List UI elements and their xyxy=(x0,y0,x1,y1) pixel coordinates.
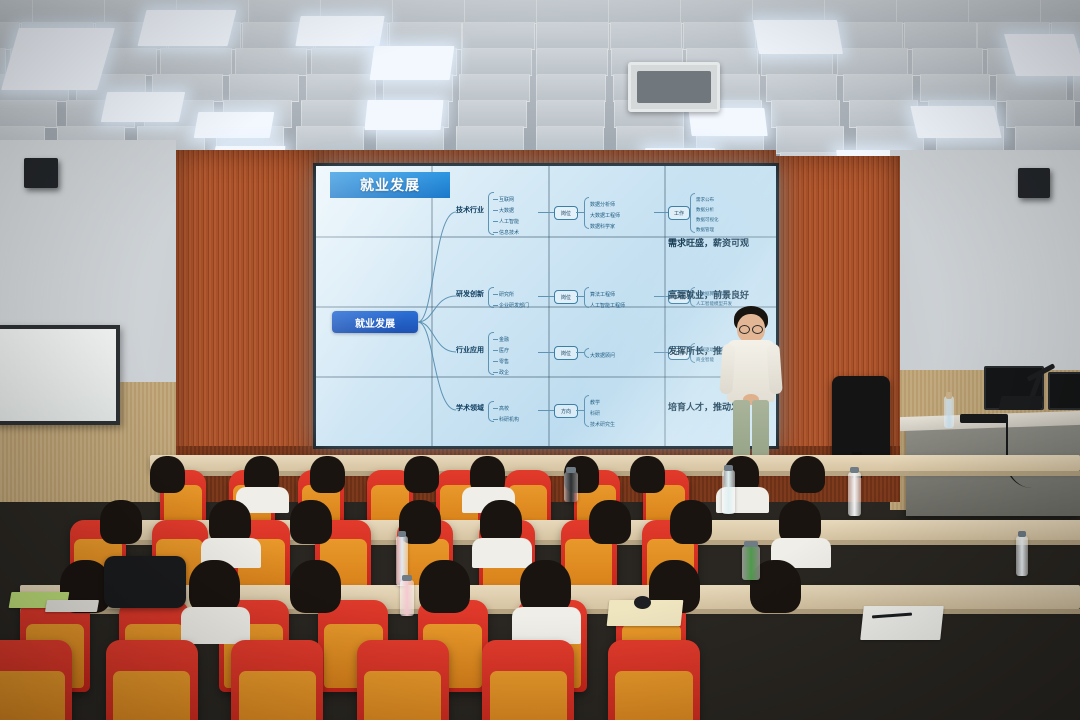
mindmap-item: 数据可视化 xyxy=(696,217,719,223)
mindmap-item: 数据科学家 xyxy=(590,223,615,230)
ceiling-tile xyxy=(683,22,756,50)
ceiling-tile xyxy=(610,22,683,50)
ceiling-light xyxy=(194,112,275,138)
mindmap-line xyxy=(654,296,668,297)
chair-pad xyxy=(239,671,316,720)
water-bottle xyxy=(722,470,735,514)
mindmap-leaf-line xyxy=(493,372,498,373)
presenter-arm xyxy=(766,344,782,395)
bottle-cap xyxy=(566,467,576,473)
student-head xyxy=(100,500,142,544)
student-head xyxy=(589,500,631,544)
mindmap-leaf: 人工智能 xyxy=(499,218,519,225)
mindmap-leaf: 信息技术 xyxy=(499,229,519,236)
mindmap-line xyxy=(576,296,584,297)
mindmap-line xyxy=(576,212,584,213)
ceiling-tile xyxy=(771,100,840,128)
mindmap-line xyxy=(538,410,554,411)
mindmap-brace xyxy=(584,287,589,308)
lecture-chair xyxy=(608,640,700,720)
ceiling-tile xyxy=(0,100,57,128)
mindmap-leaf: 企业研发部门 xyxy=(499,302,529,309)
mindmap-outcome: 高端就业，前景良好 xyxy=(668,288,749,301)
mindmap-item: 数据管理 xyxy=(696,227,714,233)
ceiling-tile xyxy=(461,48,533,76)
chair-pad xyxy=(0,671,65,720)
mindmap-leaf: 高校 xyxy=(499,405,509,412)
podium-equipment xyxy=(960,414,1008,423)
bottle-cap xyxy=(946,392,952,399)
mindmap-branch-label: 行业应用 xyxy=(456,345,484,355)
chair-pad xyxy=(565,539,612,589)
ceiling-light xyxy=(1004,34,1080,76)
backpack xyxy=(104,556,186,608)
mindmap-item: 商业智能 xyxy=(696,357,714,363)
mindmap-item: 教学 xyxy=(590,399,600,406)
mindmap-leaf-line xyxy=(493,232,498,233)
classroom-photo: 就业发展 就业发展 技术行业互联网大数据人工智能信息技术岗位数据分析师大数据工程… xyxy=(0,0,1080,720)
ceiling-tile xyxy=(464,0,538,24)
student-head xyxy=(290,560,341,613)
ceiling-tile xyxy=(680,0,754,24)
ceiling-tile xyxy=(996,74,1066,102)
glasses-icon xyxy=(739,325,750,334)
mindmap-brace xyxy=(584,348,589,358)
student-shirt xyxy=(512,607,581,644)
mindmap-item: 算法工程师 xyxy=(590,291,615,298)
mindmap-leaf: 大数据 xyxy=(499,207,514,214)
ceiling-tile xyxy=(920,74,990,102)
ceiling-tile xyxy=(32,0,106,24)
mindmap-leaf-line xyxy=(493,350,498,351)
ceiling-tile xyxy=(608,0,682,24)
ceiling-light xyxy=(1,28,115,90)
student-head xyxy=(630,456,665,493)
mindmap-line xyxy=(538,212,554,213)
water-bottle xyxy=(1016,536,1028,576)
mindmap-line xyxy=(654,352,668,353)
ceiling-tile xyxy=(392,0,466,24)
bottle-cap xyxy=(1018,531,1026,537)
student-shirt xyxy=(472,538,532,569)
mindmap-item: 大数据工程师 xyxy=(590,212,620,219)
mindmap-leaf-line xyxy=(493,210,498,211)
mindmap-brace xyxy=(584,395,589,427)
bottle-cap xyxy=(402,575,412,581)
ceiling-tile xyxy=(306,74,376,102)
mindmap-brace xyxy=(690,193,695,233)
chair-pad xyxy=(113,671,190,720)
lecture-chair xyxy=(357,640,449,720)
mindmap-item: 大数据顾问 xyxy=(590,352,615,359)
laptop xyxy=(999,396,1044,410)
mindmap-leaf-line xyxy=(493,419,498,420)
ceiling-tile xyxy=(229,74,299,102)
bottle-cap xyxy=(398,531,406,537)
ceiling-tile xyxy=(160,48,232,76)
speaker-icon xyxy=(1018,168,1050,198)
mindmap-leaf-line xyxy=(493,339,498,340)
student-head xyxy=(404,456,439,493)
mindmap-item: 科研 xyxy=(590,410,600,417)
glasses-icon xyxy=(752,325,763,334)
water-bottle xyxy=(742,546,760,580)
mindmap-item: 数据分析师 xyxy=(590,201,615,208)
lecture-chair xyxy=(231,640,323,720)
ceiling-tile xyxy=(766,74,836,102)
ceiling-light xyxy=(753,20,843,54)
ceiling-tile xyxy=(843,74,913,102)
ceiling-tile xyxy=(968,0,1042,24)
mindmap-stage-box: 工作 xyxy=(668,206,690,220)
ceiling-light xyxy=(295,16,384,46)
mindmap-line xyxy=(538,296,554,297)
ceiling-tile xyxy=(536,100,605,128)
mindmap-stage-box: 岗位 xyxy=(554,290,578,304)
ceiling-light xyxy=(364,100,443,130)
student-head xyxy=(790,456,825,493)
mindmap-leaf-line xyxy=(493,199,498,200)
ceiling-tile xyxy=(912,48,984,76)
ceiling-tile xyxy=(0,0,34,24)
mindmap-leaf: 互联网 xyxy=(499,196,514,203)
ceiling-tile xyxy=(301,100,370,128)
mindmap-item: 需求公布 xyxy=(696,197,714,203)
ceiling-tile xyxy=(904,22,977,50)
student-head xyxy=(419,560,470,613)
mindmap-leaf: 零售 xyxy=(499,358,509,365)
student-head xyxy=(189,560,240,613)
presenter xyxy=(716,306,786,476)
mindmap-stage-box: 岗位 xyxy=(554,206,578,220)
student-head xyxy=(150,456,185,493)
mindmap-leaf: 金融 xyxy=(499,336,509,343)
lecture-chair xyxy=(0,640,72,720)
bottle-cap xyxy=(744,541,758,547)
water-bottle xyxy=(848,472,861,516)
mindmap-line xyxy=(538,352,554,353)
ceiling-tile xyxy=(1040,0,1080,24)
chair-pad xyxy=(364,671,441,720)
ceiling-tile xyxy=(1073,74,1080,102)
mindmap-leaf: 科研机构 xyxy=(499,416,519,423)
ceiling-tile xyxy=(235,48,307,76)
ceiling-light xyxy=(101,92,185,122)
mindmap-leaf: 研究所 xyxy=(499,291,514,298)
student-head xyxy=(670,500,712,544)
mindmap-branch-label: 技术行业 xyxy=(456,205,484,215)
mindmap-item: 技术研究生 xyxy=(590,421,615,428)
chair-pad xyxy=(490,671,567,720)
ceiling-light xyxy=(138,10,237,46)
water-bottle xyxy=(944,396,954,428)
notebook xyxy=(45,600,99,612)
ac-vent-icon xyxy=(628,62,720,112)
mindmap-item: 人工智能工程师 xyxy=(590,302,625,309)
mindmap-stage-box: 岗位 xyxy=(554,346,578,360)
ceiling-tile xyxy=(459,74,529,102)
mindmap-leaf-line xyxy=(493,221,498,222)
secondary-monitor xyxy=(1048,372,1080,410)
mindmap-item: 数据分析 xyxy=(696,207,714,213)
bottle-cap xyxy=(850,467,859,473)
ceiling-tile xyxy=(896,0,970,24)
chair-pad xyxy=(615,671,692,720)
ceiling-tile xyxy=(536,74,606,102)
ceiling-tile xyxy=(536,48,608,76)
water-bottle xyxy=(564,472,578,502)
ceiling-light xyxy=(370,46,455,80)
video-wall-screen: 就业发展 就业发展 技术行业互联网大数据人工智能信息技术岗位数据分析师大数据工程… xyxy=(316,166,776,446)
water-bottle xyxy=(400,580,414,616)
ceiling-light xyxy=(688,108,767,136)
ceiling-tile xyxy=(1006,100,1075,128)
ceiling-tile xyxy=(776,126,844,154)
mindmap-branch-label: 学术领域 xyxy=(456,403,484,413)
ceiling-tile xyxy=(837,48,909,76)
ceiling-tile xyxy=(462,22,535,50)
mindmap-leaf: 政企 xyxy=(499,369,509,376)
mindmap-leaf-line xyxy=(493,305,498,306)
office-chair xyxy=(832,376,890,462)
ceiling-tile xyxy=(536,22,609,50)
notebook xyxy=(860,606,944,640)
ceiling-tile xyxy=(458,100,527,128)
mindmap-brace xyxy=(584,197,589,229)
mindmap: 技术行业互联网大数据人工智能信息技术岗位数据分析师大数据工程师数据科学家工作需求… xyxy=(316,166,776,446)
mindmap-line xyxy=(576,410,584,411)
ceiling-tile xyxy=(536,0,610,24)
mindmap-leaf-line xyxy=(493,361,498,362)
stapler xyxy=(634,596,651,609)
student-desk xyxy=(150,455,1080,471)
student-head xyxy=(520,560,571,613)
speaker-icon xyxy=(24,158,58,188)
ceiling-tile xyxy=(849,100,918,128)
mindmap-leaf-line xyxy=(493,294,498,295)
mindmap-branch-label: 研发创新 xyxy=(456,289,484,299)
student-head xyxy=(290,500,332,544)
mindmap-line xyxy=(654,212,668,213)
mindmap-leaf-line xyxy=(493,408,498,409)
whiteboard xyxy=(0,325,120,425)
lecture-chair xyxy=(106,640,198,720)
ceiling-light xyxy=(910,106,1001,138)
student-head xyxy=(310,456,345,493)
bottle-cap xyxy=(724,465,733,471)
mindmap-outcome: 需求旺盛，薪资可观 xyxy=(668,236,749,249)
mindmap-leaf: 医疗 xyxy=(499,347,509,354)
lecture-chair xyxy=(482,640,574,720)
student-shirt xyxy=(181,607,250,644)
mindmap-stage-box: 方向 xyxy=(554,404,578,418)
mindmap-line xyxy=(576,352,584,353)
